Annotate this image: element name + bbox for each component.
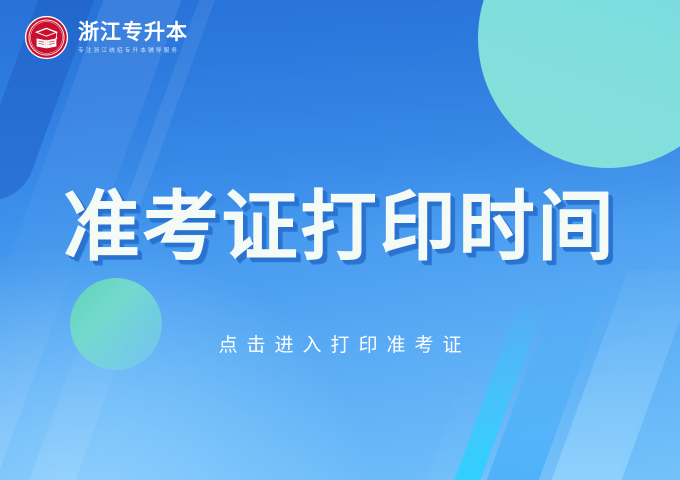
diagonal-stripe-lower-left xyxy=(0,250,80,480)
graduation-cap-book-emblem-icon xyxy=(24,15,69,60)
headline-title: 准考证打印时间 xyxy=(0,190,680,266)
diagonal-stripe-lower-left-2 xyxy=(11,300,141,480)
diagonal-stripe-cyan-bright xyxy=(440,300,546,480)
diagonal-stripe-mid-right xyxy=(404,360,660,480)
diagonal-stripe-cyan-mid xyxy=(472,290,608,480)
brand-title: 浙江专升本 xyxy=(78,22,188,44)
cta-link[interactable]: 点击进入打印准考证 xyxy=(0,330,680,357)
brand-subtitle: 专注浙江统招专升本辅导服务 xyxy=(78,48,184,55)
promo-banner: 浙江专升本 专注浙江统招专升本辅导服务 准考证打印时间 点击进入打印准考证 xyxy=(0,0,680,480)
diagonal-stripe-cyan-pale xyxy=(537,270,680,480)
brand-text-block: 浙江专升本 专注浙江统招专升本辅导服务 xyxy=(78,20,188,55)
decorative-circle-top-right xyxy=(478,0,680,168)
brand-logo[interactable]: 浙江专升本 专注浙江统招专升本辅导服务 xyxy=(24,15,188,60)
